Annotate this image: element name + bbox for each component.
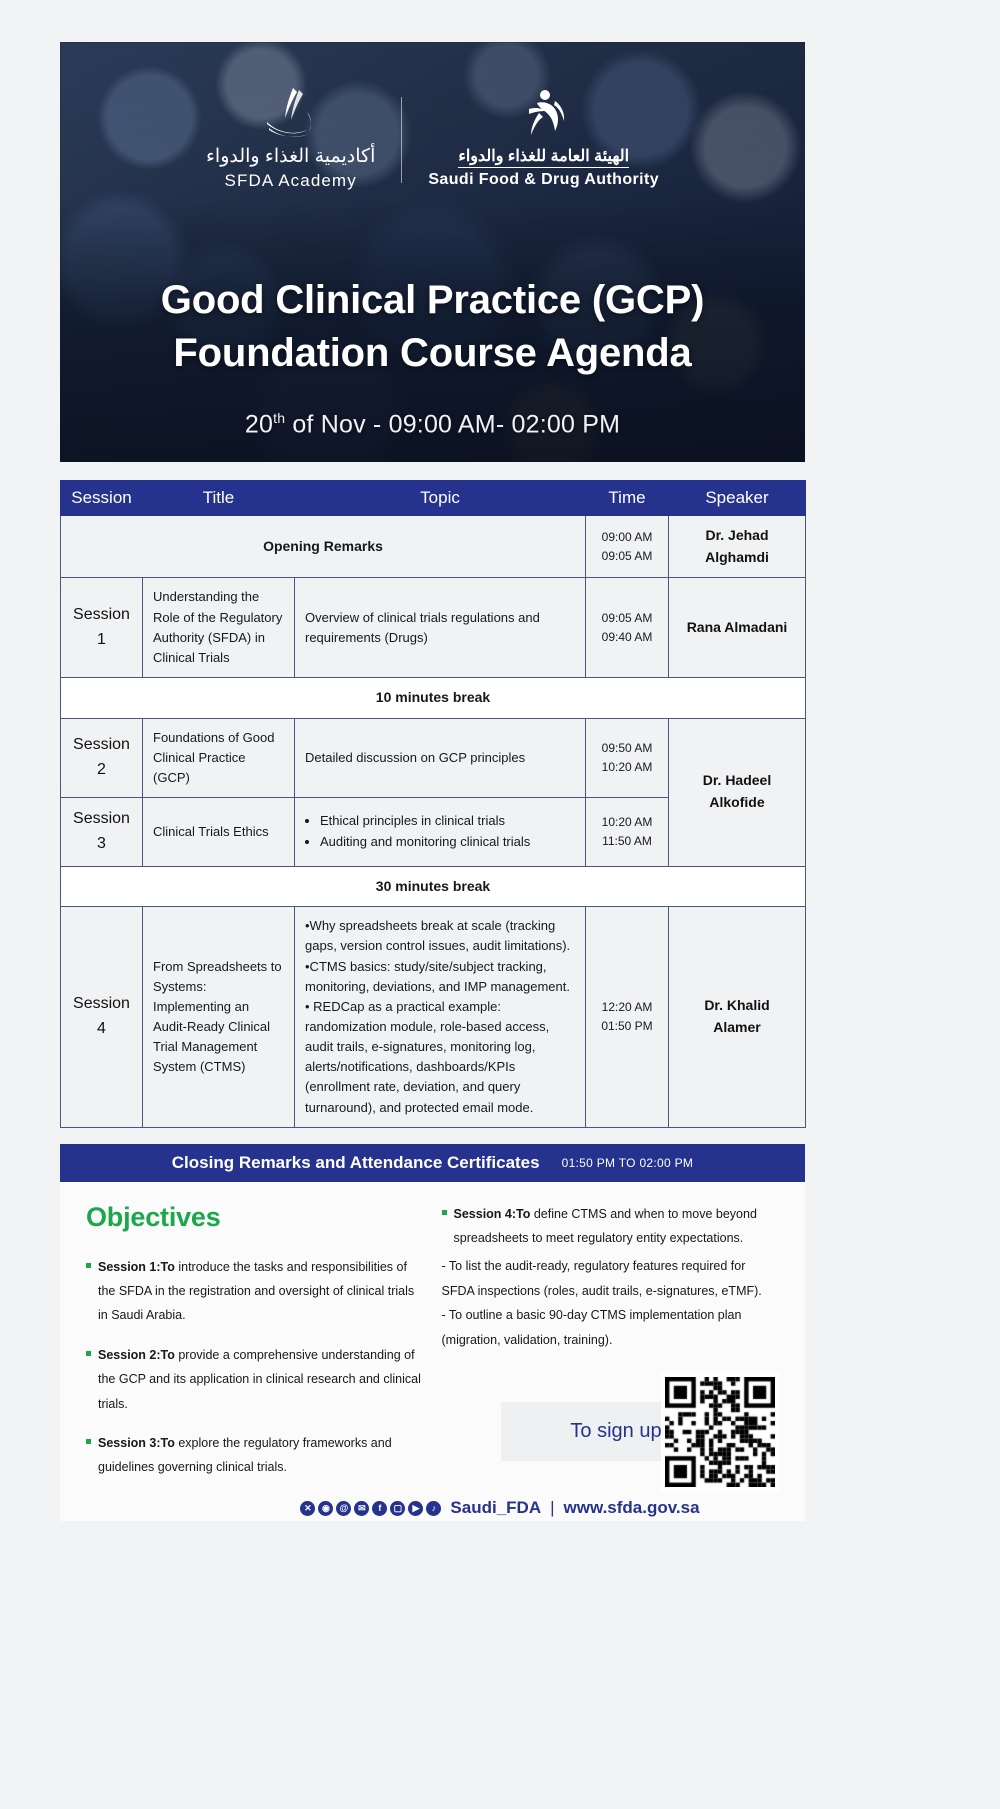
objectives-right-extra: - To list the audit-ready, regulatory fe… <box>442 1254 780 1352</box>
break-label: 30 minutes break <box>61 866 806 907</box>
topic-bullet: Ethical principles in clinical trials <box>320 811 575 831</box>
tiktok-icon[interactable]: ♪ <box>426 1501 441 1516</box>
cell-speaker: Dr. Khalid Alamer <box>669 907 806 1127</box>
objectives-left-list: Session 1:To introduce the tasks and res… <box>86 1255 424 1480</box>
cell-topic: Ethical principles in clinical trialsAud… <box>295 798 586 867</box>
qr-code[interactable] <box>661 1373 779 1491</box>
cell-session: Session 3 <box>61 798 143 867</box>
cell-time: 09:05 AM 09:40 AM <box>586 578 669 678</box>
topic-line: •Why spreadsheets break at scale (tracki… <box>305 916 575 956</box>
objective-item: Session 1:To introduce the tasks and res… <box>86 1255 424 1328</box>
objective-label: Session 2:To <box>98 1348 175 1362</box>
closing-remarks-bar: Closing Remarks and Attendance Certifica… <box>60 1144 805 1182</box>
cell-title: From Spreadsheets to Systems: Implementi… <box>143 907 295 1127</box>
objective-subline: - To list the audit-ready, regulatory fe… <box>442 1254 780 1303</box>
email-icon[interactable]: ✉ <box>354 1501 369 1516</box>
course-title: Good Clinical Practice (GCP) Foundation … <box>60 274 805 380</box>
x-icon[interactable]: ✕ <box>300 1501 315 1516</box>
objective-item: Session 2:To provide a comprehensive und… <box>86 1343 424 1416</box>
closing-remarks-time: 01:50 PM TO 02:00 PM <box>562 1156 694 1170</box>
course-title-line1: Good Clinical Practice (GCP) <box>60 274 805 327</box>
opening-remarks-label: Opening Remarks <box>61 516 586 578</box>
header-speaker: Speaker <box>669 481 806 516</box>
date-day: 20 <box>245 410 273 438</box>
sfda-academy-english: SFDA Academy <box>206 171 375 191</box>
objective-label: Session 4:To <box>454 1207 531 1221</box>
bullet-square-icon <box>86 1439 91 1444</box>
signup-area[interactable]: To sign up <box>501 1373 779 1491</box>
objective-item: Session 4:To define CTMS and when to mov… <box>442 1202 780 1251</box>
sfda-authority-logo: الهيئة العامة للغذاء والدواء Saudi Food … <box>428 85 659 190</box>
course-date-time: 20th of Nov - 09:00 AM- 02:00 PM <box>60 410 805 439</box>
objective-label: Session 3:To <box>98 1436 175 1450</box>
facebook-icon[interactable]: f <box>372 1501 387 1516</box>
objective-subline: - To outline a basic 90-day CTMS impleme… <box>442 1303 780 1352</box>
footer: ✕◉@✉f▢▶♪ Saudi_FDA | www.sfda.gov.sa <box>0 1498 1000 1518</box>
objective-label: Session 1:To <box>98 1260 175 1274</box>
hero-banner: أكاديمية الغذاء والدواء SFDA Academy <box>60 42 805 462</box>
social-icons[interactable]: ✕◉@✉f▢▶♪ <box>300 1501 441 1516</box>
bullet-square-icon <box>442 1210 447 1215</box>
sfda-figure-icon <box>428 85 659 139</box>
footer-separator: | <box>550 1498 554 1518</box>
cell-title: Foundations of Good Clinical Practice (G… <box>143 718 295 797</box>
table-row: Opening Remarks09:00 AM 09:05 AMDr. Jeha… <box>61 516 806 578</box>
date-rest: of Nov - 09:00 AM- 02:00 PM <box>285 410 620 438</box>
sfda-academy-arabic: أكاديمية الغذاء والدواء <box>206 147 375 168</box>
cell-time: 09:00 AM 09:05 AM <box>586 516 669 578</box>
cell-speaker: Rana Almadani <box>669 578 806 678</box>
cell-title: Clinical Trials Ethics <box>143 798 295 867</box>
bullet-square-icon <box>86 1263 91 1268</box>
objectives-right-list: Session 4:To define CTMS and when to mov… <box>442 1202 780 1251</box>
instagram-icon[interactable]: ▢ <box>390 1501 405 1516</box>
agenda-table: Session Title Topic Time Speaker Opening… <box>60 480 806 1128</box>
logo-row: أكاديمية الغذاء والدواء SFDA Academy <box>60 42 805 190</box>
bullet-square-icon <box>86 1351 91 1356</box>
table-row: Session 4From Spreadsheets to Systems: I… <box>61 907 806 1127</box>
objectives-heading: Objectives <box>86 1202 424 1233</box>
social-handle: Saudi_FDA <box>450 1498 541 1518</box>
header-time: Time <box>586 481 669 516</box>
sfda-academy-book-icon <box>206 84 375 138</box>
date-suffix: th <box>273 410 285 426</box>
objectives-left-column: Objectives Session 1:To introduce the ta… <box>86 1202 424 1495</box>
cell-topic: Detailed discussion on GCP principles <box>295 718 586 797</box>
sfda-authority-arabic: الهيئة العامة للغذاء والدواء <box>458 148 629 169</box>
header-title: Title <box>143 481 295 516</box>
cell-topic: Overview of clinical trials regulations … <box>295 578 586 678</box>
logo-divider <box>401 97 402 183</box>
topic-bullet: Auditing and monitoring clinical trials <box>320 832 575 852</box>
cell-session: Session 2 <box>61 718 143 797</box>
topic-line: • REDCap as a practical example: randomi… <box>305 997 575 1118</box>
break-row: 10 minutes break <box>61 677 806 718</box>
poster-page: أكاديمية الغذاء والدواء SFDA Academy <box>0 0 1000 1809</box>
table-row: Session 2Foundations of Good Clinical Pr… <box>61 718 806 797</box>
cell-time: 10:20 AM 11:50 AM <box>586 798 669 867</box>
table-header-row: Session Title Topic Time Speaker <box>61 481 806 516</box>
break-label: 10 minutes break <box>61 677 806 718</box>
cell-time: 12:20 AM 01:50 PM <box>586 907 669 1127</box>
cell-time: 09:50 AM 10:20 AM <box>586 718 669 797</box>
break-row: 30 minutes break <box>61 866 806 907</box>
agenda-table-body: Opening Remarks09:00 AM 09:05 AMDr. Jeha… <box>61 516 806 1128</box>
header-topic: Topic <box>295 481 586 516</box>
threads-icon[interactable]: @ <box>336 1501 351 1516</box>
objectives-section: Objectives Session 1:To introduce the ta… <box>60 1182 805 1521</box>
poster-sheet: أكاديمية الغذاء والدواء SFDA Academy <box>60 42 805 1521</box>
cell-title: Understanding the Role of the Regulatory… <box>143 578 295 678</box>
cell-speaker: Dr. Jehad Alghamdi <box>669 516 806 578</box>
cell-session: Session 1 <box>61 578 143 678</box>
cell-session: Session 4 <box>61 907 143 1127</box>
sfda-authority-english: Saudi Food & Drug Authority <box>428 171 659 189</box>
table-row: Session 1Understanding the Role of the R… <box>61 578 806 678</box>
cell-topic: •Why spreadsheets break at scale (tracki… <box>295 907 586 1127</box>
website-url[interactable]: www.sfda.gov.sa <box>564 1498 700 1518</box>
objective-item: Session 3:To explore the regulatory fram… <box>86 1431 424 1480</box>
course-title-line2: Foundation Course Agenda <box>60 327 805 380</box>
cell-speaker: Dr. Hadeel Alkofide <box>669 718 806 866</box>
header-session: Session <box>61 481 143 516</box>
snapchat-icon[interactable]: ◉ <box>318 1501 333 1516</box>
youtube-icon[interactable]: ▶ <box>408 1501 423 1516</box>
topic-line: •CTMS basics: study/site/subject trackin… <box>305 957 575 997</box>
closing-remarks-title: Closing Remarks and Attendance Certifica… <box>172 1153 540 1173</box>
sfda-academy-logo: أكاديمية الغذاء والدواء SFDA Academy <box>206 84 375 190</box>
